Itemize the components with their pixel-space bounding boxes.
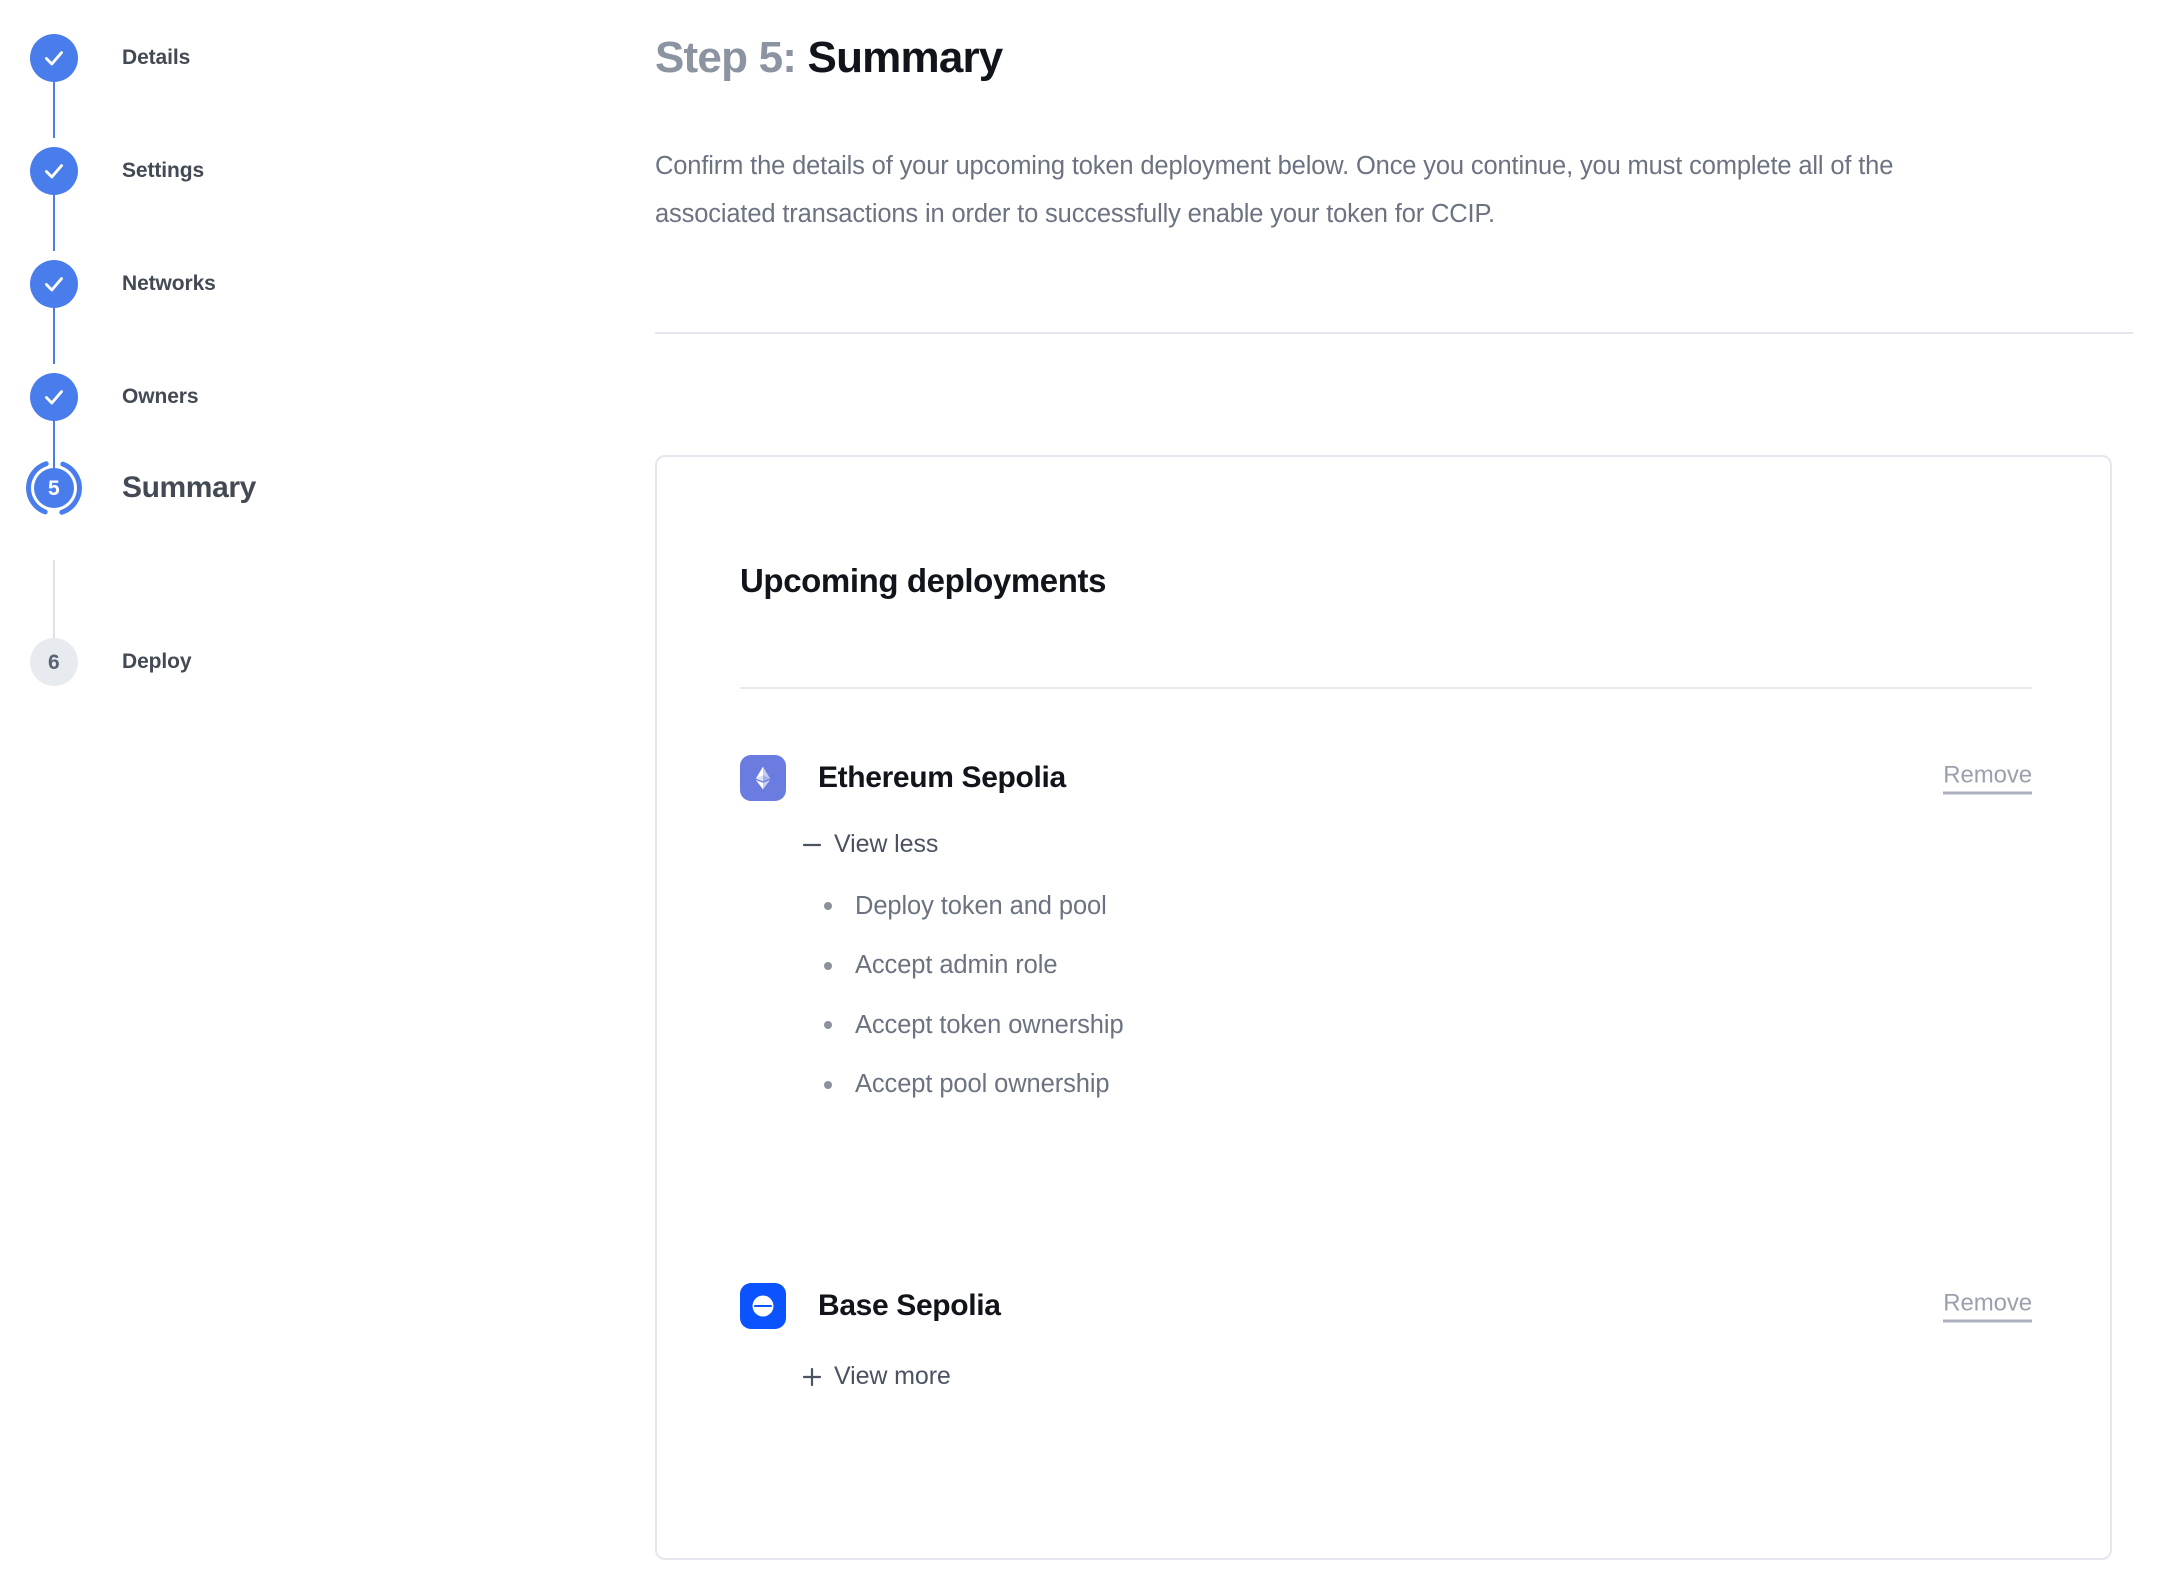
check-icon <box>41 271 67 297</box>
sidebar-item-label: Settings <box>122 159 204 183</box>
plus-glyph-icon <box>800 1365 824 1389</box>
step-marker-summary: 5 <box>30 464 78 512</box>
step-status-current: 5 <box>34 468 74 508</box>
ethereum-icon <box>740 755 786 801</box>
network-name: Ethereum Sepolia <box>818 761 1066 795</box>
stepper-connector-1 <box>53 78 55 138</box>
step-marker-deploy: 6 <box>30 638 78 686</box>
page-title: Step 5: Summary <box>655 32 1002 85</box>
check-icon <box>41 384 67 410</box>
sidebar-item-settings[interactable]: Settings <box>30 147 204 195</box>
base-glyph-icon <box>749 1292 777 1320</box>
wizard-stepper: Details Settings Netwo <box>0 0 640 1580</box>
step-number: 5 <box>48 478 60 499</box>
step-marker-owners <box>30 373 78 421</box>
step-status-done <box>30 373 78 421</box>
sidebar-item-networks[interactable]: Networks <box>30 260 216 308</box>
step-status-done <box>30 34 78 82</box>
minus-icon <box>800 833 826 857</box>
view-toggle-label: View less <box>834 830 938 859</box>
step-marker-networks <box>30 260 78 308</box>
main-content: Step 5: Summary Confirm the details of y… <box>655 0 2160 1580</box>
header-divider <box>655 332 2133 334</box>
list-item: Deploy token and pool <box>817 894 2032 920</box>
sidebar-item-label: Summary <box>122 471 256 505</box>
sidebar-item-deploy[interactable]: 6 Deploy <box>30 638 191 686</box>
remove-network-link[interactable]: Remove <box>1943 1290 2032 1323</box>
plus-icon <box>800 1365 826 1389</box>
step-status-todo: 6 <box>30 638 78 686</box>
page-description: Confirm the details of your upcoming tok… <box>655 142 1935 238</box>
token-manager-summary-page: Details Settings Netwo <box>0 0 2160 1580</box>
sidebar-item-owners[interactable]: Owners <box>30 373 198 421</box>
card-title: Upcoming deployments <box>740 562 1106 600</box>
remove-network-link[interactable]: Remove <box>1943 762 2032 795</box>
stepper-connector-3 <box>53 305 55 364</box>
step-number: 6 <box>48 652 60 673</box>
minus-glyph-icon <box>800 833 824 857</box>
page-title-step: Step 5: <box>655 33 796 82</box>
network-header: Base Sepolia Remove <box>740 1282 2032 1330</box>
sidebar-item-details[interactable]: Details <box>30 34 190 82</box>
upcoming-deployments-card: Upcoming deployments <box>655 455 2112 1560</box>
ethereum-glyph-icon <box>750 765 776 791</box>
list-item: Accept token ownership <box>817 1013 2032 1039</box>
sidebar-item-summary[interactable]: 5 Summary <box>30 464 256 512</box>
view-toggle-label: View more <box>834 1362 951 1391</box>
network-block-ethereum-sepolia: Ethereum Sepolia Remove View less Deploy… <box>740 754 2032 1098</box>
step-status-done <box>30 260 78 308</box>
sidebar-item-label: Networks <box>122 272 216 296</box>
step-status-done <box>30 147 78 195</box>
list-item: Accept admin role <box>817 953 2032 979</box>
base-icon <box>740 1283 786 1329</box>
sidebar-item-label: Owners <box>122 385 198 409</box>
check-icon <box>41 158 67 184</box>
stepper-connector-2 <box>53 192 55 251</box>
view-more-toggle[interactable]: View more <box>800 1362 951 1391</box>
card-divider <box>740 687 2032 689</box>
network-name: Base Sepolia <box>818 1289 1001 1323</box>
deployment-task-list: Deploy token and pool Accept admin role … <box>817 894 2032 1098</box>
step-marker-details <box>30 34 78 82</box>
network-header: Ethereum Sepolia Remove <box>740 754 2032 802</box>
view-less-toggle[interactable]: View less <box>800 830 938 859</box>
sidebar-item-label: Deploy <box>122 650 191 674</box>
check-icon <box>41 45 67 71</box>
network-block-base-sepolia: Base Sepolia Remove View more <box>740 1282 2032 1394</box>
sidebar-item-label: Details <box>122 46 190 70</box>
step-marker-settings <box>30 147 78 195</box>
stepper-connector-5 <box>53 560 55 642</box>
list-item: Accept pool ownership <box>817 1072 2032 1098</box>
page-title-name: Summary <box>808 33 1003 82</box>
